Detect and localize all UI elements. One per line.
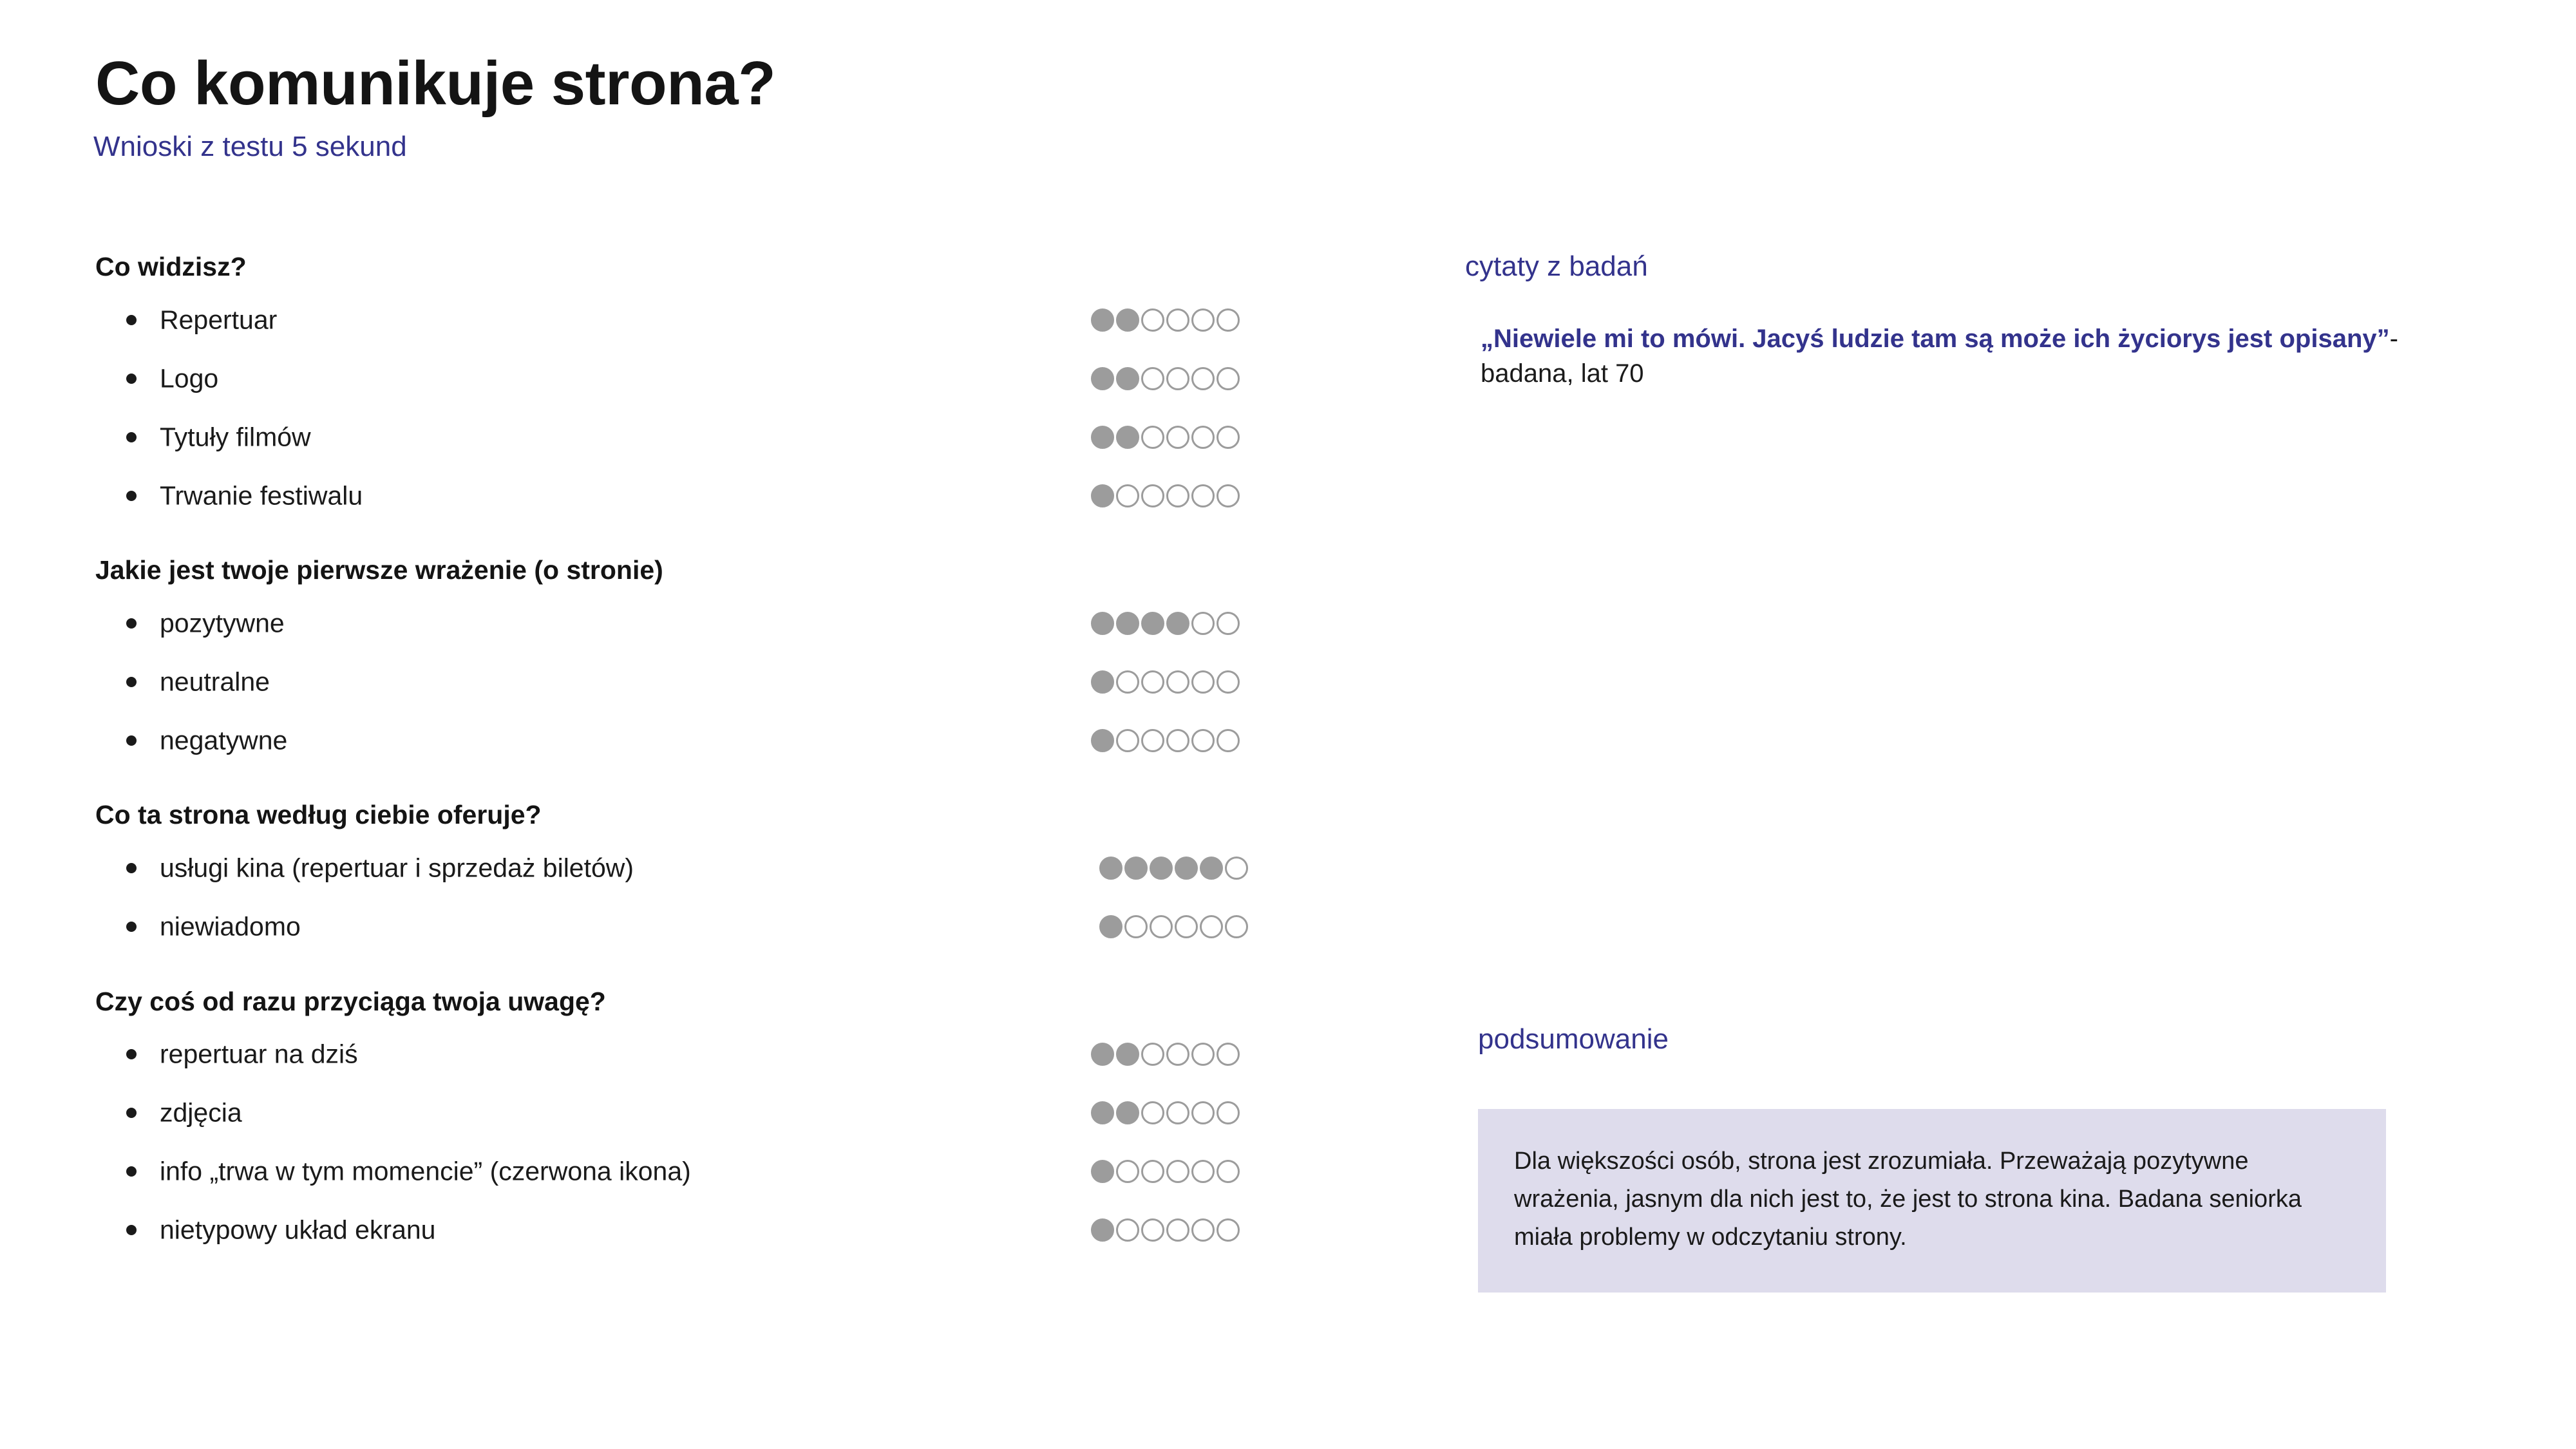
rating-dot-empty — [1141, 484, 1164, 507]
rating-dot-scale — [1091, 612, 1240, 635]
answer-label: negatywne — [160, 725, 287, 755]
answer-label: Tytuły filmów — [160, 422, 311, 452]
rating-dot-filled — [1200, 857, 1223, 880]
rating-dot-empty — [1217, 426, 1240, 449]
rating-dot-scale — [1099, 915, 1248, 938]
answer-row: niewiadomo — [0, 898, 1417, 956]
answer-label: niewiadomo — [160, 911, 301, 942]
research-quote: „Niewiele mi to mówi. Jacyś ludzie tam s… — [1481, 322, 2414, 390]
rating-dot-empty — [1217, 1160, 1240, 1183]
rating-dot-scale — [1091, 1043, 1240, 1066]
rating-dot-filled — [1091, 308, 1114, 332]
rating-dot-scale — [1091, 426, 1240, 449]
rating-dot-empty — [1116, 670, 1139, 694]
bullet-icon — [126, 618, 137, 629]
rating-dot-scale — [1099, 857, 1248, 880]
bullet-icon — [126, 1225, 137, 1235]
rating-dot-empty — [1217, 612, 1240, 635]
rating-dot-empty — [1116, 484, 1139, 507]
bullet-icon — [126, 1166, 137, 1177]
rating-dot-empty — [1166, 308, 1189, 332]
page-subtitle: Wnioski z testu 5 sekund — [93, 131, 1383, 162]
answer-row: nietypowy układ ekranu — [0, 1201, 1417, 1260]
rating-dot-scale — [1091, 484, 1240, 507]
summary-text: Dla większości osób, strona jest zrozumi… — [1514, 1142, 2350, 1256]
rating-dot-empty — [1166, 484, 1189, 507]
rating-dot-empty — [1225, 915, 1248, 938]
rating-dot-filled — [1091, 484, 1114, 507]
summary-heading: podsumowanie — [1478, 1024, 2508, 1055]
summary-section: podsumowanie Dla większości osób, strona… — [1478, 1024, 2508, 1293]
rating-dot-filled — [1116, 367, 1139, 390]
question-block: Czy coś od razu przyciąga twoja uwagę?re… — [0, 986, 1417, 1260]
rating-dot-filled — [1116, 308, 1139, 332]
rating-dot-empty — [1217, 484, 1240, 507]
rating-dot-empty — [1191, 1043, 1215, 1066]
rating-dot-filled — [1166, 612, 1189, 635]
rating-dot-empty — [1225, 857, 1248, 880]
page-title: Co komunikuje strona? — [95, 50, 1383, 117]
rating-dot-empty — [1175, 915, 1198, 938]
question-block: Co ta strona według ciebie oferuje?usług… — [0, 799, 1417, 956]
question-block: Jakie jest twoje pierwsze wrażenie (o st… — [0, 554, 1417, 770]
answer-list: repertuar na dziśzdjęciainfo „trwa w tym… — [0, 1025, 1417, 1260]
rating-dot-filled — [1099, 857, 1122, 880]
answer-row: negatywne — [0, 711, 1417, 770]
rating-dot-empty — [1116, 1160, 1139, 1183]
rating-dot-scale — [1091, 1160, 1240, 1183]
rating-dot-empty — [1217, 308, 1240, 332]
answer-label: zdjęcia — [160, 1098, 242, 1128]
rating-dot-filled — [1141, 612, 1164, 635]
rating-dot-empty — [1191, 612, 1215, 635]
rating-dot-empty — [1217, 1218, 1240, 1242]
rating-dot-filled — [1116, 612, 1139, 635]
rating-dot-empty — [1191, 729, 1215, 752]
question-heading: Czy coś od razu przyciąga twoja uwagę? — [95, 986, 1417, 1018]
rating-dot-empty — [1191, 670, 1215, 694]
answer-row: Trwanie festiwalu — [0, 466, 1417, 525]
rating-dot-empty — [1191, 308, 1215, 332]
rating-dot-scale — [1091, 729, 1240, 752]
rating-dot-filled — [1091, 1160, 1114, 1183]
answer-list: RepertuarLogoTytuły filmówTrwanie festiw… — [0, 290, 1417, 525]
answer-row: repertuar na dziś — [0, 1025, 1417, 1084]
rating-dot-empty — [1124, 915, 1148, 938]
rating-dot-filled — [1091, 1101, 1114, 1124]
rating-dot-empty — [1191, 484, 1215, 507]
rating-dot-empty — [1166, 729, 1189, 752]
quotes-heading: cytaty z badań — [1465, 251, 2495, 282]
answer-label: pozytywne — [160, 608, 285, 638]
rating-dot-filled — [1150, 857, 1173, 880]
rating-dot-empty — [1217, 670, 1240, 694]
rating-dot-empty — [1141, 308, 1164, 332]
answer-row: usługi kina (repertuar i sprzedaż biletó… — [0, 839, 1417, 898]
slide-header: Co komunikuje strona? Wnioski z testu 5 … — [95, 50, 1383, 162]
rating-dot-filled — [1091, 1043, 1114, 1066]
bullet-icon — [126, 374, 137, 384]
rating-dot-scale — [1091, 670, 1240, 694]
rating-dot-empty — [1217, 1101, 1240, 1124]
answer-label: neutralne — [160, 667, 270, 697]
rating-dot-empty — [1200, 915, 1223, 938]
rating-dot-filled — [1091, 426, 1114, 449]
rating-dot-filled — [1099, 915, 1122, 938]
rating-dot-empty — [1141, 426, 1164, 449]
rating-dot-scale — [1091, 308, 1240, 332]
rating-dot-empty — [1150, 915, 1173, 938]
answer-row: neutralne — [0, 652, 1417, 711]
rating-dot-empty — [1166, 367, 1189, 390]
question-heading: Co ta strona według ciebie oferuje? — [95, 799, 1417, 831]
answer-label: nietypowy układ ekranu — [160, 1215, 435, 1245]
bullet-icon — [126, 1108, 137, 1118]
quote-text: „Niewiele mi to mówi. Jacyś ludzie tam s… — [1481, 325, 2390, 353]
bullet-icon — [126, 432, 137, 442]
answer-label: Repertuar — [160, 305, 277, 335]
rating-dot-empty — [1141, 1218, 1164, 1242]
rating-dot-filled — [1091, 729, 1114, 752]
rating-dot-empty — [1166, 1218, 1189, 1242]
bullet-icon — [126, 1049, 137, 1059]
question-heading: Co widzisz? — [95, 251, 1417, 283]
rating-dot-empty — [1191, 426, 1215, 449]
answer-row: info „trwa w tym momencie” (czerwona iko… — [0, 1142, 1417, 1201]
question-heading: Jakie jest twoje pierwsze wrażenie (o st… — [95, 554, 1417, 586]
quotes-section: cytaty z badań „Niewiele mi to mówi. Jac… — [1465, 251, 2495, 391]
questions-column: Co widzisz?RepertuarLogoTytuły filmówTrw… — [0, 251, 1417, 1289]
answer-label: info „trwa w tym momencie” (czerwona iko… — [160, 1157, 691, 1187]
rating-dot-empty — [1217, 729, 1240, 752]
rating-dot-empty — [1191, 1101, 1215, 1124]
rating-dot-empty — [1166, 426, 1189, 449]
rating-dot-filled — [1091, 670, 1114, 694]
bullet-icon — [126, 491, 137, 501]
rating-dot-empty — [1217, 1043, 1240, 1066]
rating-dot-filled — [1091, 612, 1114, 635]
rating-dot-empty — [1116, 1218, 1139, 1242]
rating-dot-empty — [1217, 367, 1240, 390]
answer-list: usługi kina (repertuar i sprzedaż biletó… — [0, 839, 1417, 956]
rating-dot-empty — [1141, 367, 1164, 390]
rating-dot-scale — [1091, 1218, 1240, 1242]
rating-dot-empty — [1141, 729, 1164, 752]
rating-dot-filled — [1091, 367, 1114, 390]
answer-list: pozytywneneutralnenegatywne — [0, 594, 1417, 770]
rating-dot-scale — [1091, 367, 1240, 390]
bullet-icon — [126, 735, 137, 746]
rating-dot-scale — [1091, 1101, 1240, 1124]
answer-row: Tytuły filmów — [0, 408, 1417, 466]
rating-dot-empty — [1116, 729, 1139, 752]
rating-dot-empty — [1191, 1218, 1215, 1242]
rating-dot-empty — [1191, 1160, 1215, 1183]
summary-box: Dla większości osób, strona jest zrozumi… — [1478, 1109, 2386, 1293]
rating-dot-filled — [1116, 426, 1139, 449]
answer-label: usługi kina (repertuar i sprzedaż biletó… — [160, 853, 634, 883]
rating-dot-empty — [1141, 1160, 1164, 1183]
rating-dot-empty — [1166, 1160, 1189, 1183]
rating-dot-filled — [1116, 1101, 1139, 1124]
answer-label: Logo — [160, 363, 218, 393]
rating-dot-filled — [1116, 1043, 1139, 1066]
rating-dot-filled — [1091, 1218, 1114, 1242]
rating-dot-empty — [1141, 1101, 1164, 1124]
rating-dot-filled — [1175, 857, 1198, 880]
answer-row: Repertuar — [0, 290, 1417, 349]
rating-dot-empty — [1141, 1043, 1164, 1066]
question-block: Co widzisz?RepertuarLogoTytuły filmówTrw… — [0, 251, 1417, 525]
bullet-icon — [126, 677, 137, 687]
rating-dot-empty — [1166, 670, 1189, 694]
bullet-icon — [126, 863, 137, 873]
rating-dot-empty — [1141, 670, 1164, 694]
answer-row: pozytywne — [0, 594, 1417, 652]
answer-label: Trwanie festiwalu — [160, 480, 363, 511]
answer-row: Logo — [0, 349, 1417, 408]
rating-dot-filled — [1124, 857, 1148, 880]
answer-label: repertuar na dziś — [160, 1039, 358, 1070]
rating-dot-empty — [1166, 1101, 1189, 1124]
bullet-icon — [126, 315, 137, 325]
answer-row: zdjęcia — [0, 1084, 1417, 1142]
rating-dot-empty — [1166, 1043, 1189, 1066]
bullet-icon — [126, 922, 137, 932]
rating-dot-empty — [1191, 367, 1215, 390]
